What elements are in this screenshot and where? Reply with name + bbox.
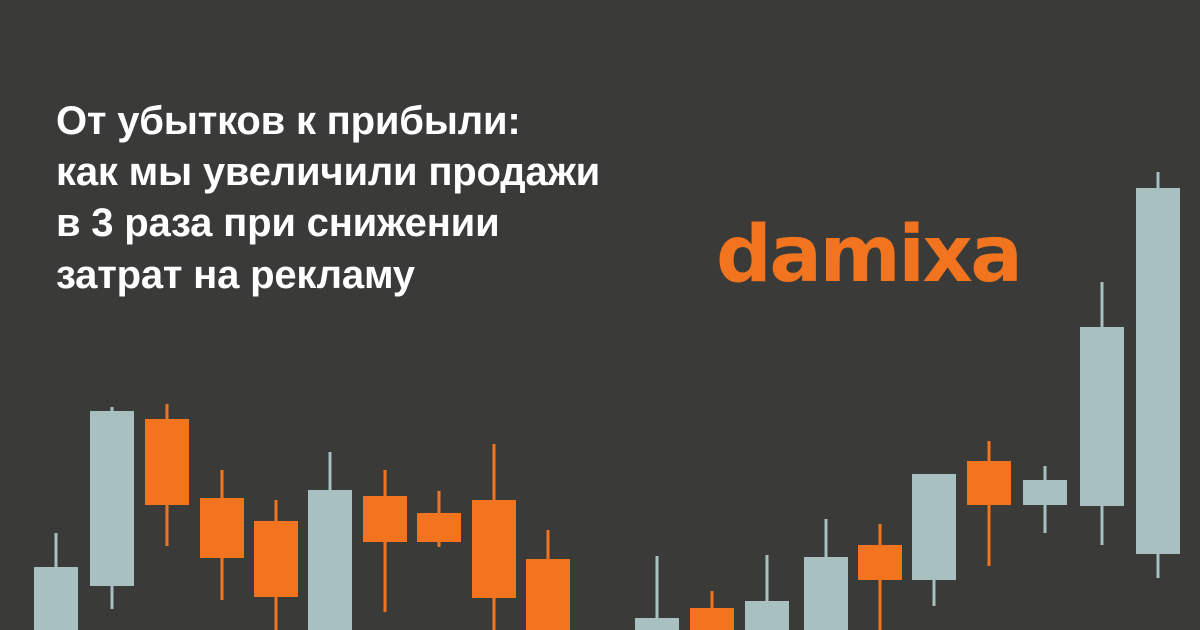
candle-body bbox=[690, 608, 734, 630]
candle-body bbox=[745, 601, 789, 630]
candlestick-19 bbox=[1080, 282, 1124, 545]
candlestick-11 bbox=[635, 556, 679, 630]
candlestick-5 bbox=[254, 500, 298, 630]
candle-body bbox=[1080, 327, 1124, 506]
candlestick-3 bbox=[145, 404, 189, 546]
page-title: От убытков к прибыли: как мы увеличили п… bbox=[56, 96, 716, 301]
candlestick-16 bbox=[912, 474, 956, 606]
brand-logo: damixa bbox=[716, 216, 1020, 294]
candlestick-10 bbox=[526, 530, 570, 630]
candlestick-8 bbox=[417, 491, 461, 547]
candle-body bbox=[90, 411, 134, 586]
candle-body bbox=[912, 474, 956, 580]
candle-body bbox=[200, 498, 244, 558]
candlestick-9 bbox=[472, 444, 516, 630]
candle-body bbox=[254, 521, 298, 597]
candlestick-1 bbox=[34, 533, 78, 630]
candlestick-15 bbox=[858, 524, 902, 630]
cover-canvas: От убытков к прибыли: как мы увеличили п… bbox=[0, 0, 1200, 630]
candle-body bbox=[417, 513, 461, 542]
candlestick-2 bbox=[90, 407, 134, 609]
candle-body bbox=[967, 461, 1011, 505]
candle-body bbox=[526, 559, 570, 630]
candlestick-chart bbox=[0, 0, 1200, 630]
candle-body bbox=[34, 567, 78, 630]
candlestick-17 bbox=[967, 441, 1011, 566]
candle-body bbox=[804, 557, 848, 630]
candlestick-6 bbox=[308, 452, 352, 630]
candle-body bbox=[472, 500, 516, 598]
candle-body bbox=[635, 618, 679, 630]
candle-body bbox=[308, 490, 352, 630]
candle-body bbox=[145, 419, 189, 505]
candlestick-12 bbox=[690, 591, 734, 630]
candle-body bbox=[858, 545, 902, 580]
candlestick-20 bbox=[1136, 172, 1180, 578]
candlestick-13 bbox=[745, 555, 789, 630]
candle-body bbox=[363, 496, 407, 542]
candlestick-7 bbox=[363, 470, 407, 612]
candlestick-14 bbox=[804, 519, 848, 630]
candlestick-4 bbox=[200, 470, 244, 600]
candle-body bbox=[1023, 480, 1067, 505]
candlestick-18 bbox=[1023, 466, 1067, 533]
candle-body bbox=[1136, 188, 1180, 554]
